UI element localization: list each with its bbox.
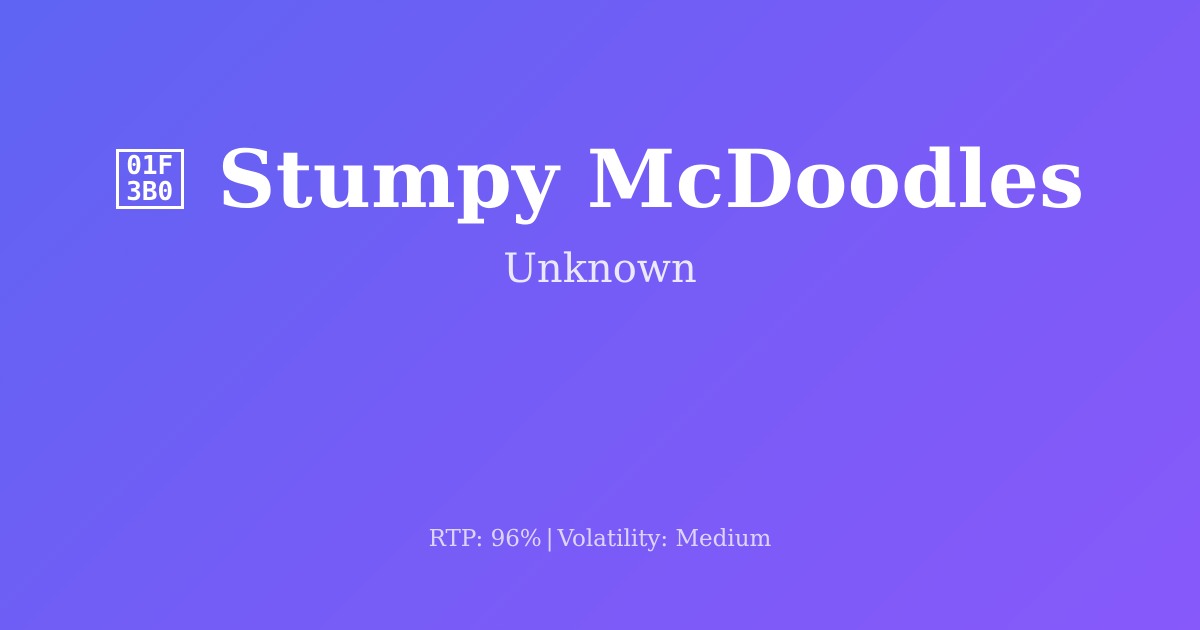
meta-separator: | <box>542 526 558 552</box>
page-title: 01F 3B0 Stumpy McDoodles <box>116 139 1085 219</box>
volatility-value: Volatility: Medium <box>557 526 771 552</box>
title-block: 01F 3B0 Stumpy McDoodles Unknown <box>0 0 1200 480</box>
rtp-value: RTP: 96% <box>429 526 542 552</box>
slot-machine-icon-codepoint-lower: 3B0 <box>126 179 173 205</box>
slot-machine-icon: 01F 3B0 <box>116 149 184 209</box>
game-title-text: Stumpy McDoodles <box>218 139 1085 219</box>
game-meta-footer: RTP: 96%|Volatility: Medium <box>0 528 1200 551</box>
slot-machine-icon-codepoint-upper: 01F <box>126 153 173 179</box>
game-og-card: 01F 3B0 Stumpy McDoodles Unknown RTP: 96… <box>0 0 1200 630</box>
game-subtitle: Unknown <box>503 249 697 289</box>
